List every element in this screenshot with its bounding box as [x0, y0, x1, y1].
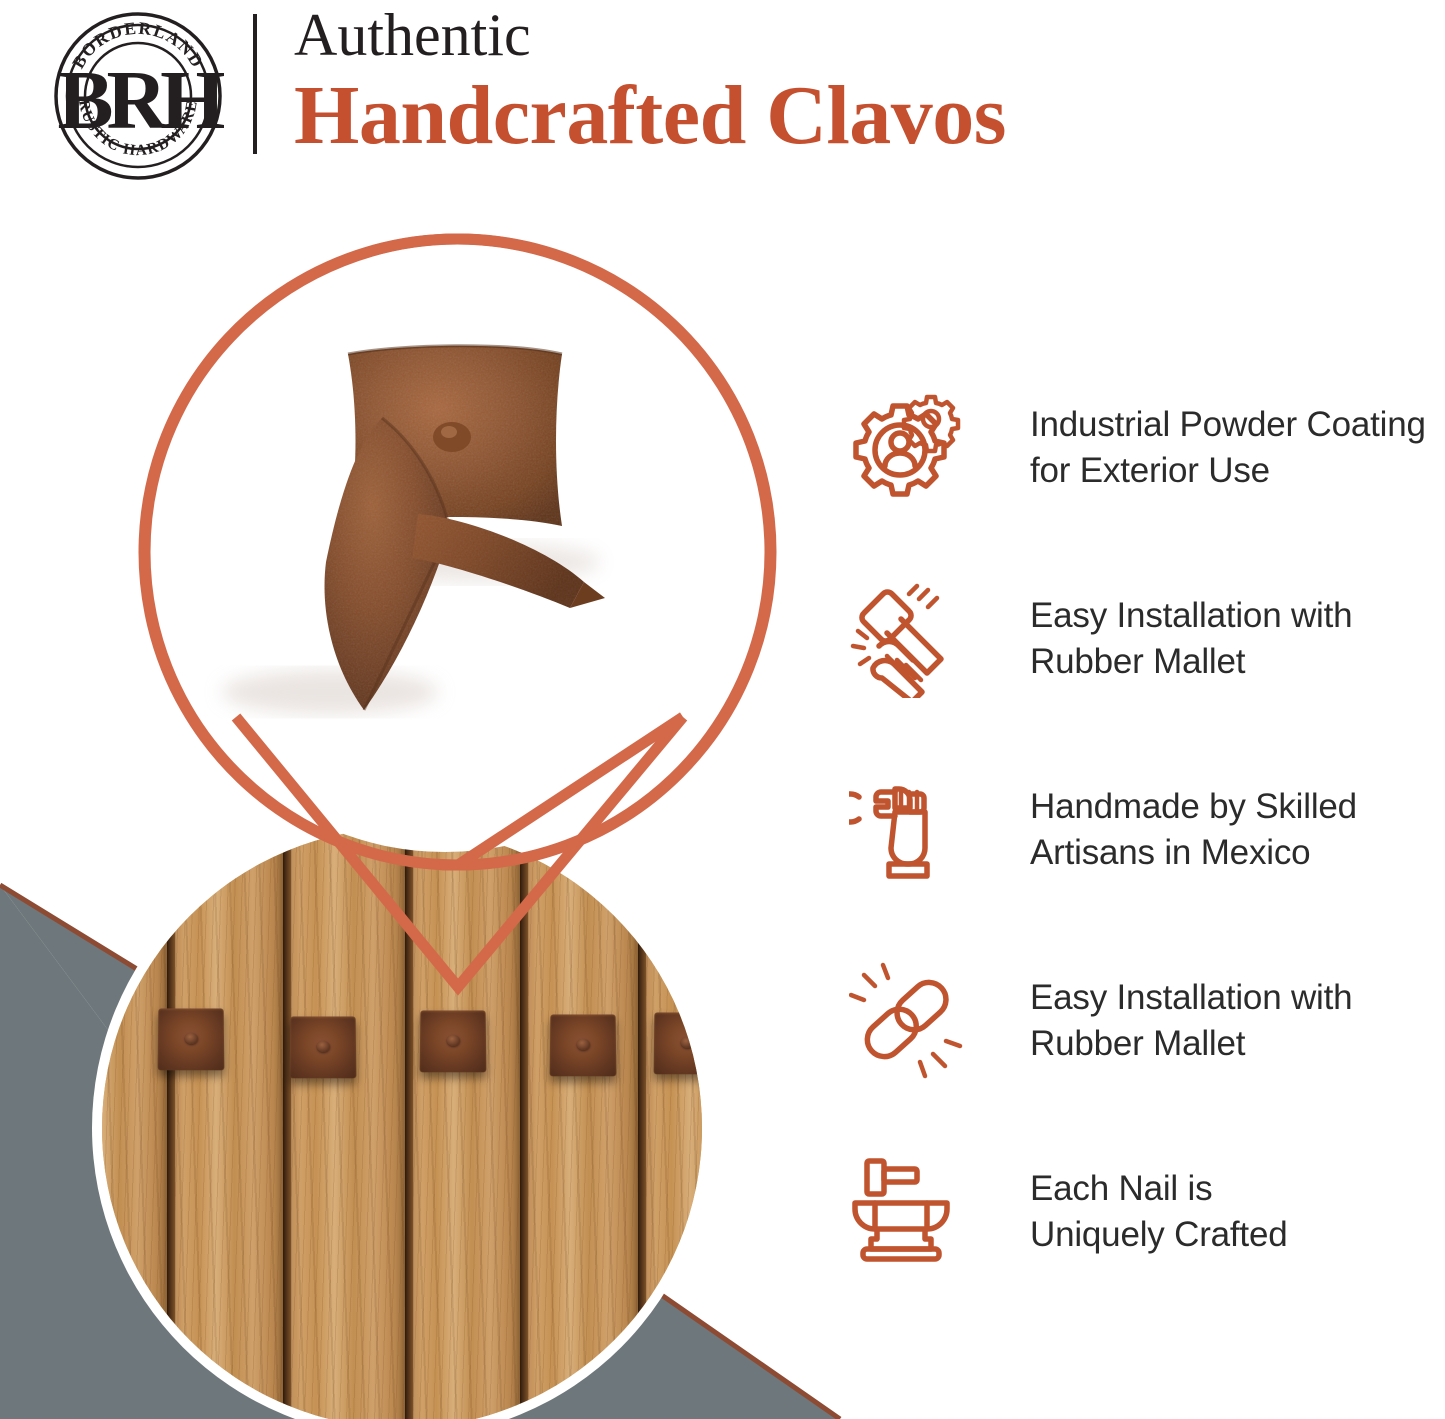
brand-logo[interactable]: BORDERLAND RUSTIC HARDWARE BRH: [52, 10, 224, 182]
feature-label-line2: Artisans in Mexico: [1030, 830, 1357, 876]
feature-item: Each Nail is Uniquely Crafted: [848, 1136, 1445, 1288]
feature-list: Industrial Powder Coating for Exterior U…: [848, 372, 1445, 1288]
feature-label-line2: Rubber Mallet: [1030, 639, 1352, 685]
feature-label: Each Nail is Uniquely Crafted: [1030, 1166, 1288, 1258]
door-planks: [102, 828, 702, 1419]
feature-item: Industrial Powder Coating for Exterior U…: [848, 372, 1445, 524]
chain-link-icon: [848, 961, 968, 1081]
title-line-authentic: Authentic: [294, 2, 1374, 68]
feature-label-line2: for Exterior Use: [1030, 448, 1426, 494]
logo-monogram: BRH: [57, 54, 224, 147]
installed-clavo-nail: [550, 1014, 617, 1076]
feature-label: Easy Installation with Rubber Mallet: [1030, 975, 1352, 1067]
plank: [528, 828, 638, 1419]
installed-clavo-nail: [420, 1010, 487, 1072]
wooden-door-photo: [102, 828, 702, 1419]
title-line-handcrafted-clavos: Handcrafted Clavos: [294, 70, 1374, 162]
plank-gap: [167, 828, 175, 1419]
feature-item: Easy Installation with Rubber Mallet: [848, 563, 1445, 715]
clavos-nails-illustration: [150, 262, 740, 852]
feature-label-line1: Handmade by Skilled: [1030, 784, 1357, 830]
feature-item: Handmade by Skilled Artisans in Mexico: [848, 754, 1445, 906]
gear-person-icon: [848, 388, 968, 508]
feature-label-line1: Easy Installation with: [1030, 593, 1352, 639]
plank: [102, 828, 167, 1419]
plank-gap: [520, 828, 528, 1419]
header-divider: [253, 14, 257, 154]
product-infographic: BORDERLAND RUSTIC HARDWARE BRH Authentic…: [0, 0, 1445, 1419]
plank: [413, 828, 520, 1419]
plank: [175, 828, 284, 1419]
feature-item: Easy Installation with Rubber Mallet: [848, 945, 1445, 1097]
plank-gap: [405, 828, 413, 1419]
header: BORDERLAND RUSTIC HARDWARE BRH Authentic…: [0, 0, 1445, 200]
installed-clavo-nail: [290, 1016, 357, 1078]
page-title: Authentic Handcrafted Clavos: [294, 2, 1374, 162]
anvil-hammer-icon: [848, 1152, 968, 1272]
feature-label: Easy Installation with Rubber Mallet: [1030, 593, 1352, 685]
feature-label-line2: Rubber Mallet: [1030, 1021, 1352, 1067]
clavos-product-photo: [150, 262, 740, 852]
plank: [646, 828, 702, 1419]
installed-clavo-nail: [158, 1008, 225, 1070]
hand-wrench-icon: [848, 770, 968, 890]
plank-gap: [283, 828, 291, 1419]
hand-mallet-icon: [848, 579, 968, 699]
feature-label-line1: Each Nail is: [1030, 1166, 1288, 1212]
plank: [291, 828, 405, 1419]
feature-label-line1: Easy Installation with: [1030, 975, 1352, 1021]
plank-gap: [638, 828, 646, 1419]
door-photo-circle: [92, 818, 712, 1419]
feature-label: Handmade by Skilled Artisans in Mexico: [1030, 784, 1357, 876]
feature-label-line2: Uniquely Crafted: [1030, 1212, 1288, 1258]
borderland-rustic-hardware-seal-icon: BORDERLAND RUSTIC HARDWARE BRH: [52, 10, 224, 182]
feature-label-line1: Industrial Powder Coating: [1030, 402, 1426, 448]
feature-label: Industrial Powder Coating for Exterior U…: [1030, 402, 1426, 494]
installed-clavo-nail: [654, 1012, 702, 1074]
